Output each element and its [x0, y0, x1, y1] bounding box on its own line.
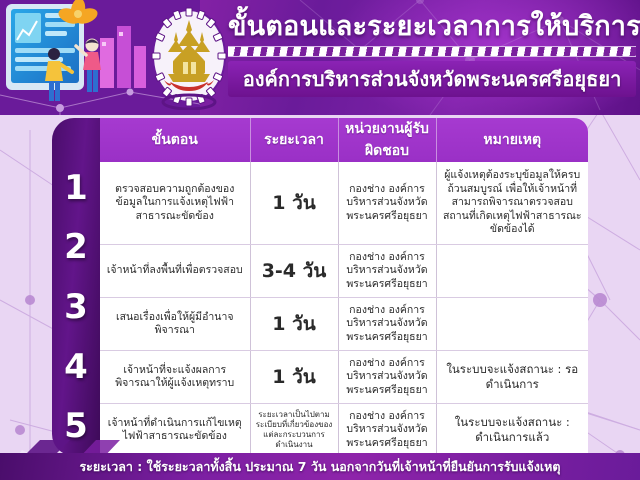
cell-remark	[436, 298, 588, 351]
cell-department: กองช่าง องค์การบริหารส่วนจังหวัดพระนครศร…	[338, 351, 436, 404]
cell-department: กองช่าง องค์การบริหารส่วนจังหวัดพระนครศร…	[338, 162, 436, 245]
cell-duration: ระยะเวลาเป็นไปตามระเบียบที่เกี่ยวข้องของ…	[250, 404, 338, 456]
cell-department: กองช่าง องค์การบริหารส่วนจังหวัดพระนครศร…	[338, 298, 436, 351]
cell-step: เจ้าหน้าที่จะแจ้งผลการพิจารณาให้ผู้แจ้งเ…	[100, 351, 250, 404]
table-row: เจ้าหน้าที่จะแจ้งผลการพิจารณาให้ผู้แจ้งเ…	[100, 351, 588, 404]
header-title-block: ขั้นตอนและระยะเวลาการให้บริการ องค์การบร…	[228, 8, 636, 97]
infographic-page: ขั้นตอนและระยะเวลาการให้บริการ องค์การบร…	[0, 0, 640, 480]
striped-divider	[228, 46, 636, 57]
cell-department: กองช่าง องค์การบริหารส่วนจังหวัดพระนครศร…	[338, 245, 436, 298]
table-row: เจ้าหน้าที่ลงพื้นที่เพื่อตรวจสอบ 3-4 วัน…	[100, 245, 588, 298]
table-grid: ขั้นตอน ระยะเวลา หน่วยงานผู้รับผิดชอบ หม…	[100, 118, 588, 456]
cell-remark	[436, 245, 588, 298]
organization-name: องค์การบริหารส่วนจังหวัดพระนครศรีอยุธยา	[243, 63, 622, 95]
subtitle-band: องค์การบริหารส่วนจังหวัดพระนครศรีอยุธยา	[228, 61, 636, 97]
cell-remark: ในระบบจะแจ้งสถานะ : รอดำเนินการ	[436, 351, 588, 404]
header-banner: ขั้นตอนและระยะเวลาการให้บริการ องค์การบร…	[0, 0, 640, 115]
cell-duration: 1 วัน	[250, 162, 338, 245]
column-header-department: หน่วยงานผู้รับผิดชอบ	[338, 118, 436, 162]
step-number: 2	[64, 230, 88, 264]
cell-duration: 3-4 วัน	[250, 245, 338, 298]
table-header-row: ขั้นตอน ระยะเวลา หน่วยงานผู้รับผิดชอบ หม…	[100, 118, 588, 162]
cell-step: เสนอเรื่องเพื่อให้ผู้มีอำนาจพิจารณา	[100, 298, 250, 351]
cell-step: ตรวจสอบความถูกต้องของข้อมูลในการแจ้งเหตุ…	[100, 162, 250, 245]
column-header-remark: หมายเหตุ	[436, 118, 588, 162]
footer-summary-text: ระยะเวลา : ใช้ระยะวลาทั้งสิ้น ประมาณ 7 ว…	[79, 457, 560, 477]
step-number-cell: 3	[52, 277, 100, 337]
step-number: 4	[64, 350, 88, 384]
step-number: 3	[64, 290, 88, 324]
step-number-cell: 2	[52, 218, 100, 278]
step-number-cell: 4	[52, 337, 100, 397]
process-table: 1 2 3 4 5 ขั้นตอน ระยะเวลา หน่วยงานผู้รั	[52, 118, 588, 456]
step-number-cell: 1	[52, 158, 100, 218]
table-row: ตรวจสอบความถูกต้องของข้อมูลในการแจ้งเหตุ…	[100, 162, 588, 245]
cell-remark: ผู้แจ้งเหตุต้องระบุข้อมูลให้ครบถ้วนสมบูร…	[436, 162, 588, 245]
cell-step: เจ้าหน้าที่ลงพื้นที่เพื่อตรวจสอบ	[100, 245, 250, 298]
cell-remark: ในระบบจะแจ้งสถานะ : ดำเนินการแล้ว	[436, 404, 588, 456]
column-header-step: ขั้นตอน	[100, 118, 250, 162]
step-number-column-header	[52, 118, 100, 158]
page-title: ขั้นตอนและระยะเวลาการให้บริการ	[228, 8, 636, 46]
step-number: 5	[64, 409, 88, 443]
step-number-column: 1 2 3 4 5	[52, 118, 100, 456]
footer-bar: ระยะเวลา : ใช้ระยะวลาทั้งสิ้น ประมาณ 7 ว…	[0, 453, 640, 480]
cell-duration: 1 วัน	[250, 298, 338, 351]
column-header-duration: ระยะเวลา	[250, 118, 338, 162]
step-number: 1	[64, 171, 88, 205]
cell-duration: 1 วัน	[250, 351, 338, 404]
provincial-seal-emblem	[150, 6, 228, 110]
cell-department: กองช่าง องค์การบริหารส่วนจังหวัดพระนครศร…	[338, 404, 436, 456]
table-row: เสนอเรื่องเพื่อให้ผู้มีอำนาจพิจารณา 1 วั…	[100, 298, 588, 351]
